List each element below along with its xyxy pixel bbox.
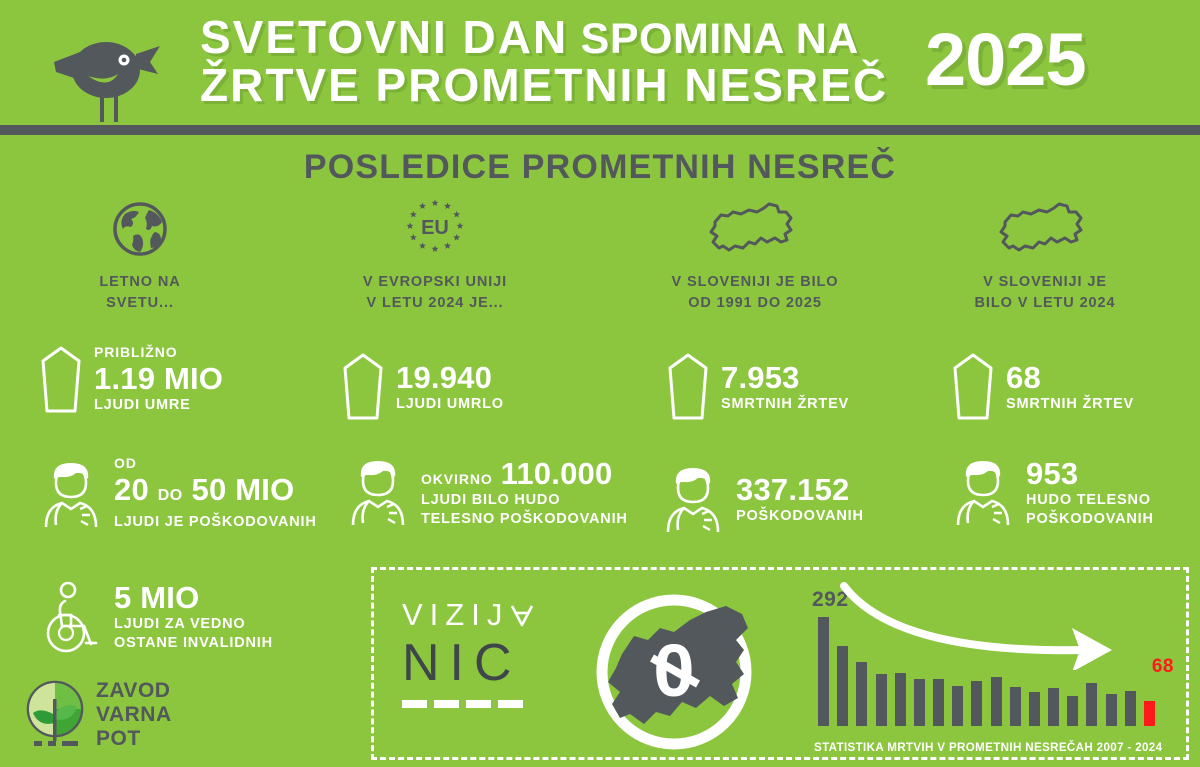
stat-value: 20 DO 50 MIO: [114, 472, 317, 513]
eu-stars-icon-wrap: EU: [305, 196, 565, 258]
chart-bar-slot: [814, 614, 833, 726]
slovenia-map-icon-wrap: [625, 196, 885, 258]
stat-pre-label: OD: [114, 455, 317, 472]
stat-text: OKVIRNO 110.000 LJUDI BILO HUDO TELESNO …: [421, 456, 628, 529]
downward-trend-arrow-icon: [836, 580, 1136, 670]
vizija-top-text: VIZIJ: [402, 598, 509, 632]
eu-star: [453, 211, 460, 218]
column-head-label: LETNO NA SVETU...: [10, 272, 270, 314]
slovenia-map-icon-wrap: [915, 196, 1175, 258]
injured-person-icon-wrap: [345, 455, 411, 529]
stat-sub-label: LJUDI BILO HUDO: [421, 491, 628, 510]
logo-line-2: VARNA: [96, 703, 172, 727]
road-dashes: [402, 700, 577, 708]
slovenia-map-icon: [993, 200, 1097, 258]
stat-sub-label: HUDO TELESNO: [1026, 491, 1154, 510]
coffin-icon-wrap: [340, 352, 386, 422]
stat-eu-deaths: 19.940 LJUDI UMRLO: [340, 352, 504, 422]
stat-value-from: 20: [114, 472, 149, 507]
injured-person-icon-wrap: [38, 457, 104, 531]
label-line: SVETU...: [10, 293, 270, 314]
logo-line-3: POT: [96, 727, 172, 751]
label-line: OD 1991 DO 2025: [625, 293, 885, 314]
zavod-varna-pot-logo-icon: [24, 679, 86, 751]
column-head-world: LETNO NA SVETU...: [10, 196, 270, 314]
eu-star: [444, 242, 451, 249]
injured-person-icon-wrap: [950, 455, 1016, 529]
stat-sub-label: SMRTNIH ŽRTEV: [721, 395, 849, 414]
stat-pre-label: OKVIRNO: [421, 471, 493, 488]
injured-person-icon-wrap: [660, 462, 726, 536]
road-dash: [402, 700, 427, 708]
injured-person-icon: [660, 462, 726, 536]
label-line: V SLOVENIJI JE BILO: [625, 272, 885, 293]
stat-slovenia-2024-injured: 953 HUDO TELESNO POŠKODOVANIH: [950, 455, 1154, 529]
stat-value-to: 50 MIO: [192, 472, 295, 507]
stat-sub-label: LJUDI UMRE: [94, 396, 223, 415]
stat-text: OD 20 DO 50 MIO LJUDI JE POŠKODOVANIH: [114, 455, 317, 532]
chart-bar: [1067, 696, 1078, 726]
organization-logo[interactable]: ZAVOD VARNA POT: [24, 675, 224, 755]
stat-value-connector: DO: [158, 487, 183, 504]
stat-value: 5 MIO: [114, 580, 273, 615]
column-head-slovenia-2024: V SLOVENIJI JE BILO V LETU 2024: [915, 196, 1175, 314]
label-line: V SLOVENIJI JE: [915, 272, 1175, 293]
chart-bar: [895, 673, 906, 726]
eu-star: [419, 242, 426, 249]
stat-sub-label: OSTANE INVALIDNIH: [114, 634, 273, 653]
eu-star: [410, 234, 417, 241]
zero-vision-slovenia-emblem-icon: 0: [586, 584, 766, 759]
coffin-icon-wrap: [950, 352, 996, 422]
stat-value: 953: [1026, 456, 1154, 491]
road-dash: [466, 700, 491, 708]
svg-text:EU: EU: [421, 217, 449, 239]
chart-bar: [952, 686, 963, 726]
chart-bar: [1086, 683, 1097, 726]
eu-star: [444, 202, 451, 209]
road-dash: [434, 700, 459, 708]
stat-text: 5 MIO LJUDI ZA VEDNO OSTANE INVALIDNIH: [114, 580, 273, 653]
chart-bar: [876, 674, 887, 726]
title-block: SVETOVNI DAN SPOMINA NA ŽRTVE PROMETNIH …: [200, 14, 930, 108]
stat-sub-label: LJUDI ZA VEDNO: [114, 615, 273, 634]
coffin-icon-wrap: [665, 352, 711, 422]
stat-world-permanently-disabled: 5 MIO LJUDI ZA VEDNO OSTANE INVALIDNIH: [42, 580, 273, 653]
coffin-icon: [665, 352, 711, 422]
slovenia-map-icon: [703, 200, 807, 258]
chart-bar: [1144, 701, 1155, 726]
globe-icon-wrap: [10, 196, 270, 258]
coffin-icon: [950, 352, 996, 422]
wheelchair-icon-wrap: [42, 581, 104, 653]
chart-bar: [933, 679, 944, 726]
stat-world-injured: OD 20 DO 50 MIO LJUDI JE POŠKODOVANIH: [38, 455, 317, 532]
section-title: POSLEDICE PROMETNIH NESREČ: [0, 148, 1200, 187]
stat-value: 68: [1006, 360, 1134, 395]
column-head-label: V SLOVENIJI JE BILO V LETU 2024: [915, 272, 1175, 314]
title-line-1: SVETOVNI DAN SPOMINA NA: [200, 14, 930, 62]
stat-text: 953 HUDO TELESNO POŠKODOVANIH: [1026, 456, 1154, 529]
eu-star: [432, 245, 439, 252]
stat-world-deaths: PRIBLIŽNO 1.19 MIO LJUDI UMRE: [38, 344, 223, 415]
chart-bar: [971, 681, 982, 726]
logo-text: ZAVOD VARNA POT: [96, 679, 172, 751]
label-line: BILO V LETU 2024: [915, 293, 1175, 314]
stat-eu-injured: OKVIRNO 110.000 LJUDI BILO HUDO TELESNO …: [345, 455, 628, 529]
header: SVETOVNI DAN SPOMINA NA ŽRTVE PROMETNIH …: [0, 0, 1200, 133]
eu-star: [419, 202, 426, 209]
column-head-label: V SLOVENIJI JE BILO OD 1991 DO 2025: [625, 272, 885, 314]
stat-value-row: OKVIRNO 110.000: [421, 456, 628, 491]
stat-slovenia-total-deaths: 7.953 SMRTNIH ŽRTEV: [665, 352, 849, 422]
stat-text: 19.940 LJUDI UMRLO: [396, 360, 504, 414]
eu-stars-icon: EU: [398, 196, 472, 258]
infographic-page: SVETOVNI DAN SPOMINA NA ŽRTVE PROMETNIH …: [0, 0, 1200, 767]
column-head-slovenia-1991-2025: V SLOVENIJI JE BILO OD 1991 DO 2025: [625, 196, 885, 314]
stat-sub-label: TELESNO POŠKODOVANIH: [421, 510, 628, 529]
vizija-nic-logo[interactable]: VIZIJ NIC: [402, 598, 577, 738]
inverted-a-icon: [509, 602, 535, 628]
injured-person-icon: [950, 455, 1016, 529]
chart-bar: [991, 677, 1002, 726]
stat-value: 7.953: [721, 360, 849, 395]
eu-star: [410, 211, 417, 218]
chart-bar: [1106, 694, 1117, 726]
eu-star: [457, 222, 464, 229]
stat-pre-label: PRIBLIŽNO: [94, 344, 223, 361]
stat-text: 337.152 POŠKODOVANIH: [736, 472, 864, 526]
stat-sub-label: LJUDI UMRLO: [396, 395, 504, 414]
eu-star: [407, 222, 414, 229]
stat-slovenia-2024-deaths: 68 SMRTNIH ŽRTEV: [950, 352, 1134, 422]
stat-value: 19.940: [396, 360, 504, 395]
chart-last-label: 68: [1152, 656, 1174, 678]
stat-text: 68 SMRTNIH ŽRTEV: [1006, 360, 1134, 414]
injured-person-icon: [38, 457, 104, 531]
chart-bar: [1048, 688, 1059, 726]
chart-bar: [1125, 691, 1136, 726]
title-line-2: ŽRTVE PROMETNIH NESREČ: [200, 62, 930, 108]
stat-sub-label: POŠKODOVANIH: [1026, 510, 1154, 529]
eu-star: [453, 234, 460, 241]
vizija-top-row: VIZIJ: [402, 598, 577, 632]
stat-text: PRIBLIŽNO 1.19 MIO LJUDI UMRE: [94, 344, 223, 415]
column-head-eu: EU V EVROPSKI UNIJI V LETU 2024 JE...: [305, 196, 565, 314]
chart-bar: [914, 679, 925, 726]
column-head-label: V EVROPSKI UNIJI V LETU 2024 JE...: [305, 272, 565, 314]
label-line: V EVROPSKI UNIJI: [305, 272, 565, 293]
globe-icon: [111, 200, 169, 258]
stat-value: 337.152: [736, 472, 864, 507]
header-divider: [0, 125, 1200, 135]
title-light: SPOMINA NA: [581, 15, 859, 63]
bird-icon: [28, 18, 168, 130]
chart-caption: STATISTIKA MRTVIH V PROMETNIH NESREČAH 2…: [814, 741, 1184, 754]
fatalities-bar-chart: 292 68 STATISTIKA MRTVIH V PROMETNIH NES…: [814, 580, 1184, 758]
year-badge: 2025: [925, 20, 1086, 100]
wheelchair-icon: [42, 581, 104, 653]
bottom-panel: VIZIJ NIC 0 292 68: [371, 567, 1189, 760]
label-line: V LETU 2024 JE...: [305, 293, 565, 314]
chart-bar: [1029, 692, 1040, 726]
stat-slovenia-total-injured: 337.152 POŠKODOVANIH: [660, 462, 864, 536]
stat-sub-label: SMRTNIH ŽRTEV: [1006, 395, 1134, 414]
stat-value: 1.19 MIO: [94, 361, 223, 396]
vizija-mid-text: NIC: [402, 634, 577, 692]
chart-bar: [856, 662, 867, 726]
injured-person-icon: [345, 455, 411, 529]
coffin-icon-wrap: [38, 345, 84, 415]
road-dash: [498, 700, 523, 708]
stat-sub-label: LJUDI JE POŠKODOVANIH: [114, 513, 317, 532]
chart-bar: [818, 617, 829, 726]
coffin-icon: [38, 345, 84, 415]
stat-text: 7.953 SMRTNIH ŽRTEV: [721, 360, 849, 414]
label-line: LETNO NA: [10, 272, 270, 293]
eu-star: [432, 199, 439, 206]
chart-bar: [1010, 687, 1021, 726]
title-strong: SVETOVNI DAN: [200, 11, 568, 63]
stat-value: 110.000: [501, 456, 613, 491]
logo-line-1: ZAVOD: [96, 679, 172, 703]
stat-sub-label: POŠKODOVANIH: [736, 507, 864, 526]
coffin-icon: [340, 352, 386, 422]
